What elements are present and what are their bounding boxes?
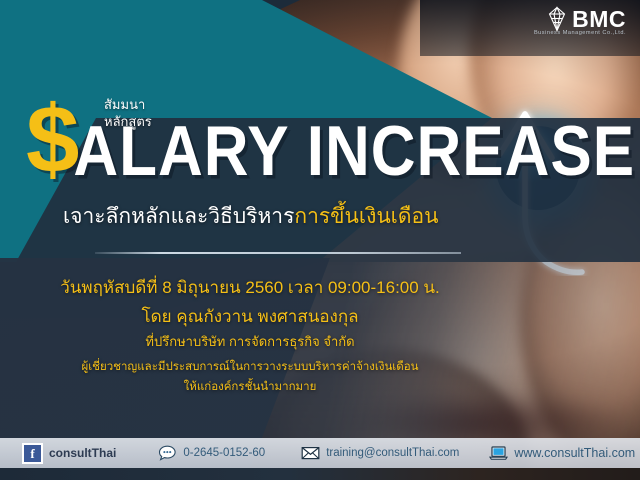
event-note-line-1: ผู้เชี่ยวชาญและมีประสบการณ์ในการวางระบบบ…: [0, 358, 500, 376]
event-speaker: โดย คุณกังวาน พงศาสนองกุล: [0, 303, 500, 330]
bottom-strip: [0, 468, 640, 480]
seminar-poster: BMC Business Management Co.,Ltd. สัมมนา …: [0, 0, 640, 480]
email-address: training@consultThai.com: [326, 447, 459, 459]
logo-tagline: Business Management Co.,Ltd.: [534, 30, 626, 36]
footer-facebook[interactable]: f consultThai: [22, 443, 116, 464]
facebook-icon[interactable]: f: [22, 443, 43, 464]
dollar-sign-glyph: $: [26, 96, 79, 184]
footer-email[interactable]: training@consultThai.com: [301, 445, 459, 461]
page-title: $ ALARY INCREASE: [26, 117, 635, 205]
footer-phone[interactable]: 0-2645-0152-60: [158, 445, 265, 461]
title-main-text: ALARY INCREASE: [73, 119, 635, 184]
bmc-diamond-icon: [545, 6, 569, 32]
event-date-time: วันพฤหัสบดีที่ 8 มิถุนายน 2560 เวลา 09:0…: [0, 274, 500, 301]
horizontal-divider: [95, 252, 461, 254]
phone-number: 0-2645-0152-60: [183, 447, 265, 459]
bmc-logo: BMC: [545, 6, 626, 32]
event-note-line-2: ให้แก่องค์กรชั้นนำมากมาย: [0, 378, 500, 396]
laptop-icon: [489, 445, 508, 461]
envelope-icon: [301, 445, 320, 461]
kicker-line-1: สัมมนา: [104, 96, 152, 113]
logo-wordmark: BMC: [572, 8, 626, 31]
footer-website[interactable]: www.consultThai.com: [489, 445, 635, 461]
facebook-label: consultThai: [49, 446, 116, 460]
chat-bubble-icon: [158, 445, 177, 461]
contact-footer-bar: f consultThai 0-2645-0152-60 training@co…: [0, 438, 640, 468]
subtitle: เจาะลึกหลักและวิธีบริหารการขึ้นเงินเดือน: [63, 200, 438, 233]
event-organization: ที่ปรึกษาบริษัท การจัดการธุรกิจ จำกัด: [0, 331, 500, 352]
website-url: www.consultThai.com: [514, 446, 635, 460]
subtitle-highlight-part: การขึ้นเงินเดือน: [294, 205, 438, 228]
subtitle-white-part: เจาะลึกหลักและวิธีบริหาร: [63, 205, 294, 228]
